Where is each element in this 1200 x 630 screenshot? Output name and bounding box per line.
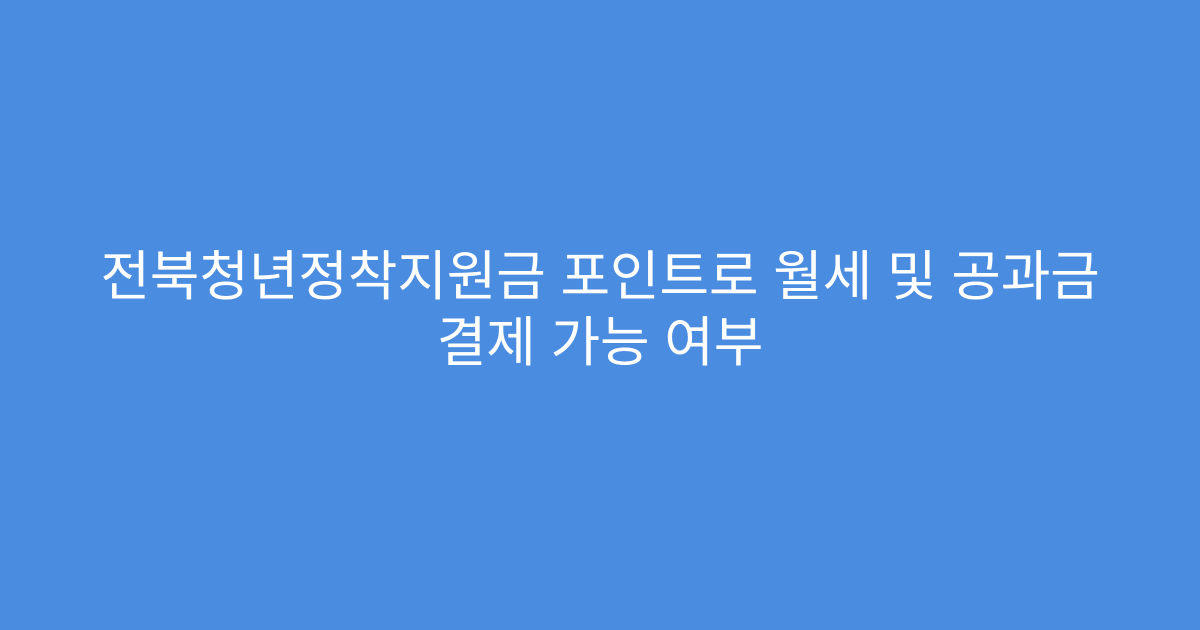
title-block: 전북청년정착지원금 포인트로 월세 및 공과금 결제 가능 여부 [0,245,1200,377]
social-card-canvas: 전북청년정착지원금 포인트로 월세 및 공과금 결제 가능 여부 [0,0,1200,630]
page-title: 전북청년정착지원금 포인트로 월세 및 공과금 결제 가능 여부 [56,245,1144,377]
